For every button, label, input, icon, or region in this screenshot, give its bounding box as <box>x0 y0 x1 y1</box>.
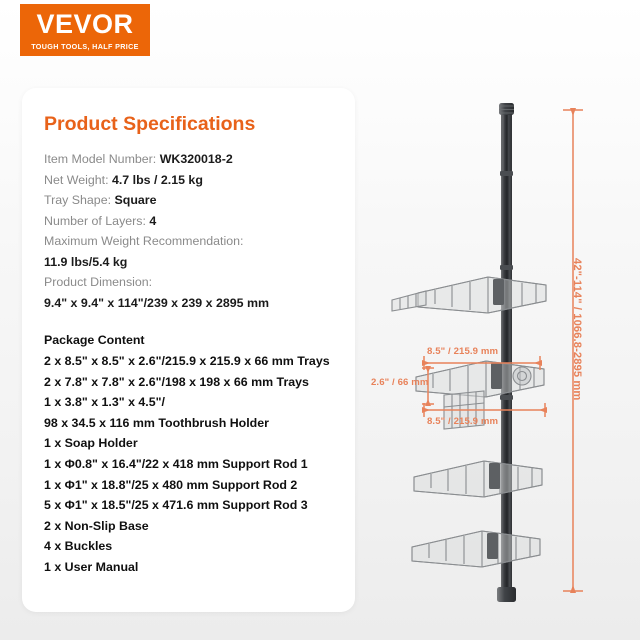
brand-tagline: TOUGH TOOLS, HALF PRICE <box>31 43 139 50</box>
specifications-card: Product Specifications Item Model Number… <box>22 88 355 612</box>
spec-label-net-weight: Net Weight: <box>44 173 109 187</box>
spec-value-tray-shape: Square <box>115 193 157 207</box>
dimension-label-width-top: 8.5" / 215.9 mm <box>427 346 498 357</box>
spec-label-tray-shape: Tray Shape: <box>44 193 111 207</box>
list-item: 1 x Φ0.8" x 16.4"/22 x 418 mm Support Ro… <box>44 454 335 475</box>
list-item: 1 x User Manual <box>44 557 335 578</box>
spec-value-max-weight: 11.9 lbs/5.4 kg <box>44 252 335 273</box>
spec-label-product-dimension: Product Dimension: <box>44 272 335 293</box>
spec-row-model: Item Model Number: WK320018-2 <box>44 149 335 170</box>
list-item: 98 x 34.5 x 116 mm Toothbrush Holder <box>44 413 335 434</box>
spec-row-net-weight: Net Weight: 4.7 lbs / 2.15 kg <box>44 170 335 191</box>
brand-wordmark: VEVOR <box>36 11 133 38</box>
spec-label-max-weight: Maximum Weight Recommendation: <box>44 231 335 252</box>
product-spec-page: VEVOR TOUGH TOOLS, HALF PRICE Product Sp… <box>0 0 640 640</box>
spec-value-product-dimension: 9.4" x 9.4" x 114"/239 x 239 x 2895 mm <box>44 293 335 314</box>
list-item: 1 x Soap Holder <box>44 433 335 454</box>
spec-label-layers: Number of Layers: <box>44 214 146 228</box>
tension-pole <box>497 103 516 602</box>
spec-row-layers: Number of Layers: 4 <box>44 211 335 232</box>
list-item: 1 x Φ1" x 18.8"/25 x 480 mm Support Rod … <box>44 475 335 496</box>
bottom-nonslip-base-icon <box>497 587 516 602</box>
list-item: 5 x Φ1" x 18.5"/25 x 471.6 mm Support Ro… <box>44 495 335 516</box>
spec-row-tray-shape: Tray Shape: Square <box>44 190 335 211</box>
shelf-tier-1 <box>392 277 546 313</box>
dimension-label-height: 42"-114" / 1066.8-2895 mm <box>571 258 583 401</box>
vevor-logo: VEVOR TOUGH TOOLS, HALF PRICE <box>20 4 150 56</box>
page-title: Product Specifications <box>44 114 335 135</box>
spec-label-model: Item Model Number: <box>44 152 156 166</box>
spec-value-net-weight: 4.7 lbs / 2.15 kg <box>112 173 203 187</box>
dimension-label-width-bottom: 8.5" / 215.9 mm <box>427 416 498 427</box>
shelf-tier-4 <box>412 531 540 567</box>
dimension-label-depth: 2.6" / 66 mm <box>371 377 428 388</box>
list-item: 1 x 3.8" x 1.3" x 4.5"/ <box>44 392 335 413</box>
list-item: 4 x Buckles <box>44 536 335 557</box>
shelf-tier-3-basket <box>414 461 542 497</box>
list-item: 2 x Non-Slip Base <box>44 516 335 537</box>
list-item: 2 x 8.5" x 8.5" x 2.6"/215.9 x 215.9 x 6… <box>44 351 335 372</box>
list-item: 2 x 7.8" x 7.8" x 2.6"/198 x 198 x 66 mm… <box>44 372 335 393</box>
top-tension-cap-icon <box>499 103 514 115</box>
spec-value-layers: 4 <box>149 214 156 228</box>
spec-value-model: WK320018-2 <box>160 152 233 166</box>
package-content-block: Package Content 2 x 8.5" x 8.5" x 2.6"/2… <box>44 330 335 577</box>
package-content-title: Package Content <box>44 330 335 351</box>
